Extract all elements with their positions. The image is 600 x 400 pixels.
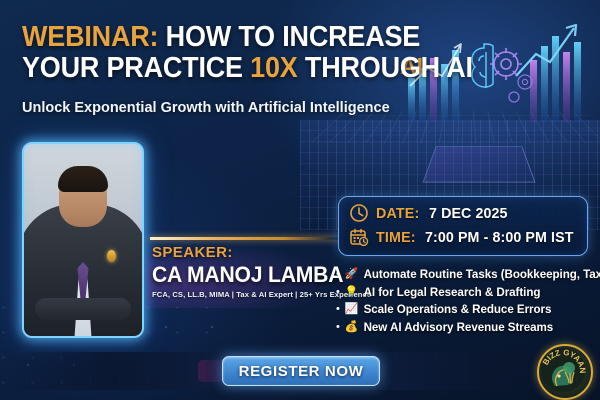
headline-line-2: YOUR PRACTICE 10X THROUGH AI [22,53,394,84]
time-label: TIME: [376,229,416,246]
gear-icon-small [509,75,532,102]
bizz-gyaan-logo: BIZZ GYAAN [537,344,593,400]
bullet-marker: • [336,322,340,333]
lightbulb-icon: 💡 [345,287,359,298]
list-item: • 📈 Scale Operations & Reduce Errors [336,303,598,316]
headline-line-2-pre: YOUR PRACTICE [22,52,243,84]
schedule-card: DATE: 7 DEC 2025 TIME: 7:00 PM - 8:00 PM… [338,196,588,256]
speaker-name: CA MANOJ LAMBA [152,262,343,288]
benefit-text: Automate Routine Tasks (Bookkeeping, Tax… [364,268,600,281]
processor-chip-graphic [422,146,535,182]
bullet-marker: • [336,287,340,298]
schedule-time-row: TIME: 7:00 PM - 8:00 PM IST [349,227,581,247]
register-now-button[interactable]: REGISTER NOW [222,356,380,386]
date-value: 7 DEC 2025 [429,205,508,222]
bullet-marker: • [336,269,340,280]
benefit-text: Scale Operations & Reduce Errors [364,303,552,316]
headline-line-2-post: THROUGH AI [305,52,473,84]
time-value: 7:00 PM - 8:00 PM IST [425,229,573,246]
date-label: DATE: [376,205,419,222]
list-item: • 🚀 Automate Routine Tasks (Bookkeeping,… [336,268,598,281]
headline-highlight-webinar: WEBINAR: [22,21,158,53]
headline-block: WEBINAR: HOW TO INCREASE YOUR PRACTICE 1… [22,22,422,84]
headline-highlight-10x: 10X [250,52,297,84]
speaker-label: SPEAKER: [152,244,233,261]
benefit-text: New AI Advisory Revenue Streams [364,321,554,334]
list-item: • 💰 New AI Advisory Revenue Streams [336,321,598,334]
clock-icon [349,203,369,223]
speaker-folded-arms [35,298,131,320]
register-now-label: REGISTER NOW [239,363,364,380]
brain-icon [472,44,493,88]
schedule-date-row: DATE: 7 DEC 2025 [349,203,511,223]
list-item: • 💡 AI for Legal Research & Drafting [336,286,598,299]
webinar-poster: AI WEBINAR: HOW TO INCREASE YOUR PRACTIC… [0,0,600,400]
poster-subtitle: Unlock Exponential Growth with Artificia… [22,100,442,116]
money-bag-icon: 💰 [345,322,359,333]
speaker-divider [150,237,340,240]
chart-increasing-icon: 📈 [345,304,359,315]
lapel-badge-icon [107,250,116,262]
rocket-icon: 🚀 [345,269,359,280]
headline-line-1-rest: HOW TO INCREASE [166,21,420,53]
headline-line-1: WEBINAR: HOW TO INCREASE [22,22,394,53]
calendar-clock-icon [349,227,369,247]
bullet-marker: • [336,304,340,315]
benefits-list: • 🚀 Automate Routine Tasks (Bookkeeping,… [336,268,598,338]
speaker-photo [22,142,144,338]
speaker-hair [58,166,108,192]
benefit-text: AI for Legal Research & Drafting [364,286,541,299]
